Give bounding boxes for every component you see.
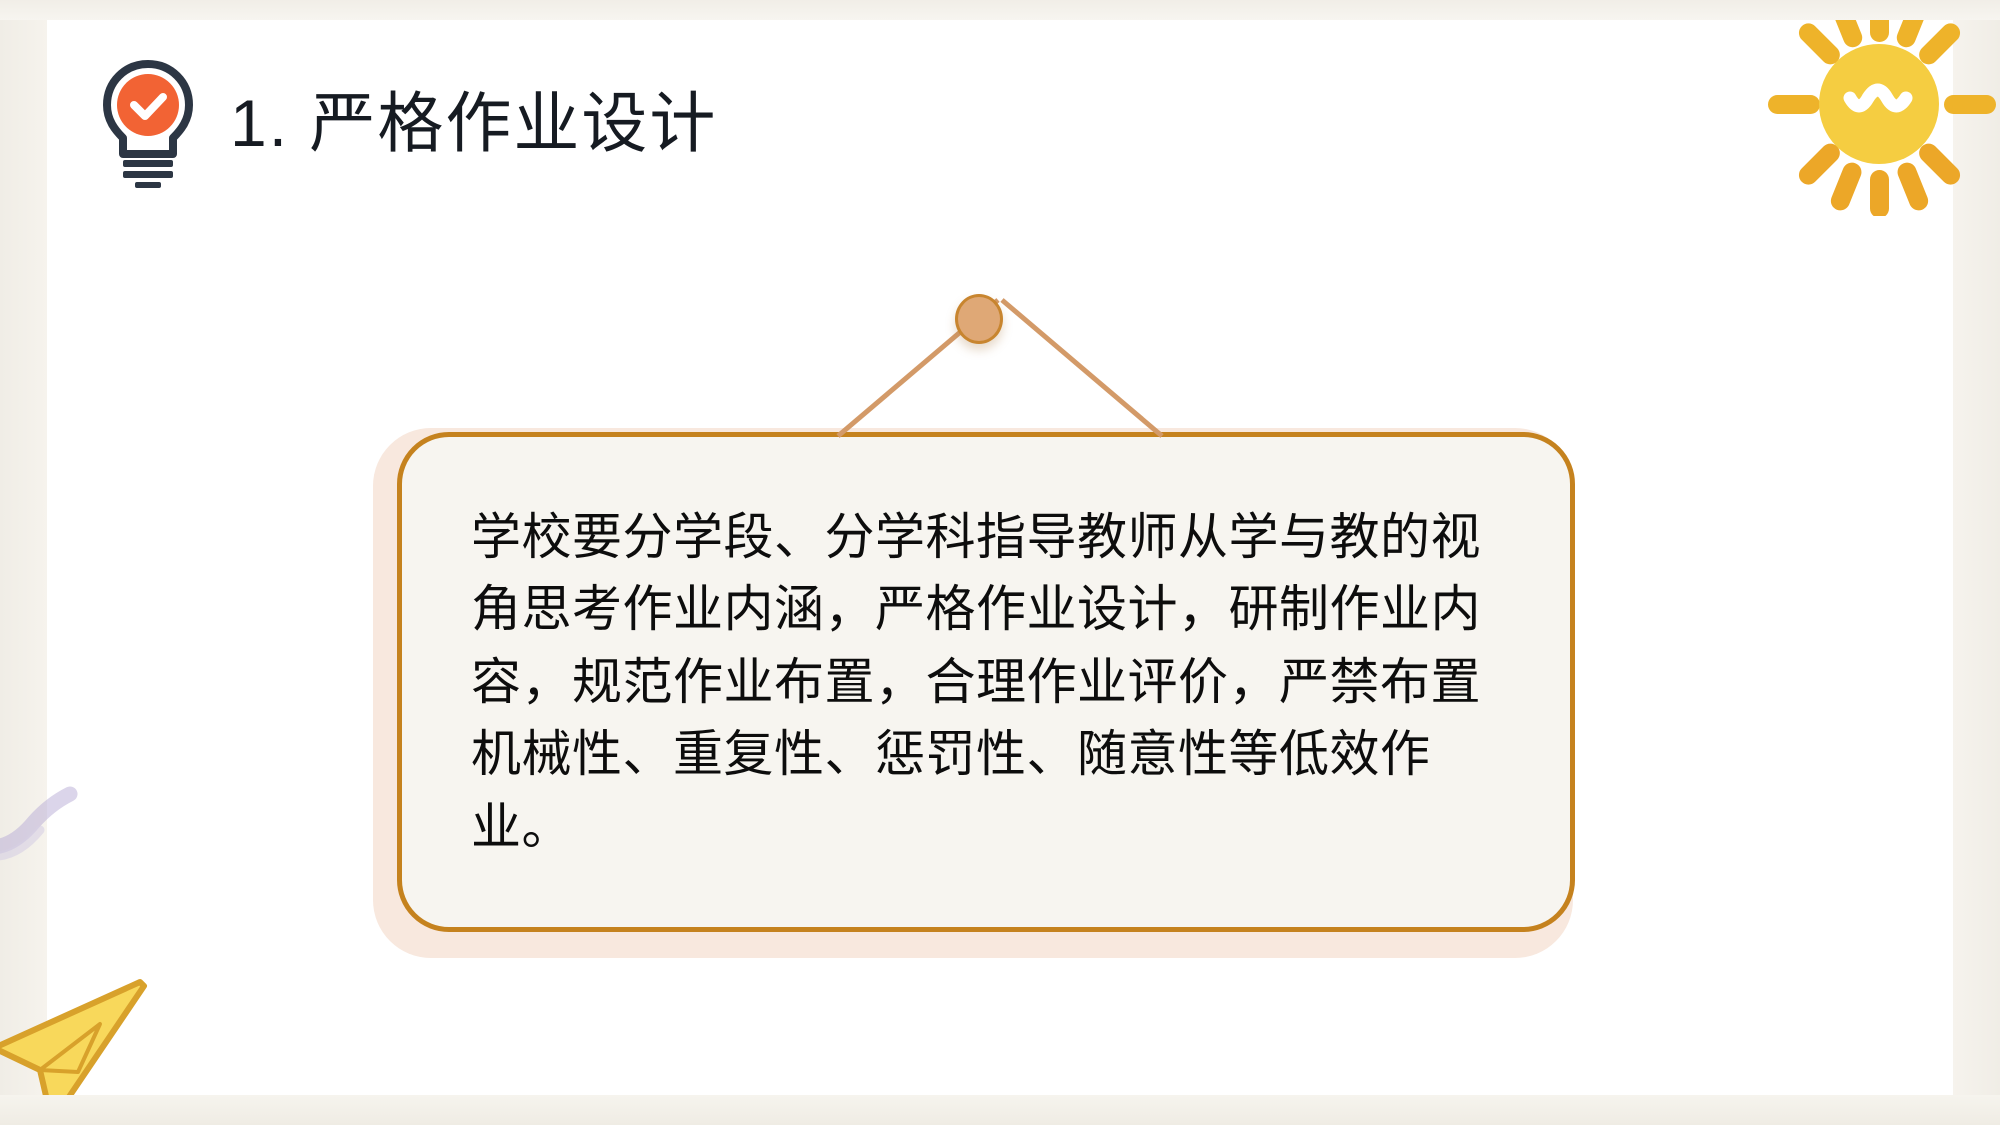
hanging-sign-knob-icon xyxy=(955,294,1003,344)
content-card: 学校要分学段、分学科指导教师从学与教的视角思考作业内涵，严格作业设计，研制作业内… xyxy=(397,432,1575,932)
slide-header: 1. 严格作业设计 xyxy=(100,58,717,190)
canvas-top-margin xyxy=(0,0,2000,20)
lilac-brush-stroke xyxy=(0,770,92,890)
sun-smiling-icon xyxy=(1762,0,2000,216)
content-card-text: 学校要分学段、分学科指导教师从学与教的视角思考作业内涵，严格作业设计，研制作业内… xyxy=(471,501,1501,864)
slide-canvas: 1. 严格作业设计 学校要分学段、分学科指导教师从学与教的视角思考作业内涵，严格… xyxy=(0,0,2000,1125)
canvas-bottom-margin xyxy=(0,1095,2000,1125)
lightbulb-check-icon xyxy=(100,58,196,190)
page-title: 1. 严格作业设计 xyxy=(230,89,717,158)
